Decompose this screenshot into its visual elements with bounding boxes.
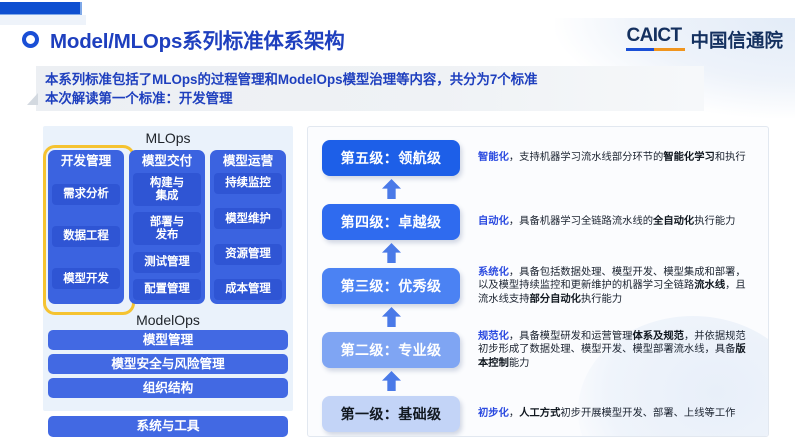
modelops-bar[interactable]: 模型安全与风险管理 — [48, 354, 288, 374]
mlops-column-title: 模型运营 — [214, 153, 282, 170]
maturity-level-row-2: 第二级：专业级规范化，具备模型研发和运营管理体系及规范，并依据规范初步形成了数据… — [308, 331, 769, 369]
logo-mark: CAICT — [626, 26, 685, 51]
mlops-item-chip[interactable]: 部署与 发布 — [133, 212, 201, 245]
maturity-level-description: 初步化，人工方式初步开展模型开发、部署、上线等工作 — [478, 407, 750, 420]
maturity-level-box[interactable]: 第五级：领航级 — [322, 140, 460, 176]
title-row: Model/MLOps系列标准体系架构 — [22, 24, 345, 54]
modelops-heading: ModelOps — [48, 308, 288, 330]
mlops-column-items: 持续监控模型维护资源管理成本管理 — [214, 173, 282, 300]
mlops-column-2[interactable]: 模型交付构建与 集成部署与 发布测试管理配置管理 — [129, 150, 205, 304]
modelops-bar[interactable]: 模型管理 — [48, 330, 288, 350]
modelops-bar[interactable]: 组织结构 — [48, 378, 288, 398]
maturity-level-box[interactable]: 第一级：基础级 — [322, 396, 460, 432]
mlops-column-items: 构建与 集成部署与 发布测试管理配置管理 — [133, 173, 201, 300]
mlops-column-title: 模型交付 — [133, 153, 201, 170]
maturity-level-description: 自动化，具备机器学习全链路流水线的全自动化执行能力 — [478, 215, 750, 228]
mlops-item-chip[interactable]: 配置管理 — [133, 279, 201, 300]
mlops-column-1[interactable]: 开发管理需求分析数据工程模型开发 — [48, 150, 124, 304]
mlops-item-chip[interactable]: 需求分析 — [52, 184, 120, 205]
up-arrow-icon — [382, 371, 401, 391]
slide-header: Model/MLOps系列标准体系架构 CAICT 中国信通院 — [0, 18, 795, 66]
caict-logo: CAICT 中国信通院 — [626, 26, 783, 51]
logo-underline — [626, 48, 685, 51]
mlops-column-3[interactable]: 模型运营持续监控模型维护资源管理成本管理 — [210, 150, 286, 304]
mlops-item-chip[interactable]: 构建与 集成 — [133, 173, 201, 206]
mlops-modelops-panel: MLOps 开发管理需求分析数据工程模型开发模型交付构建与 集成部署与 发布测试… — [43, 126, 293, 411]
corner-accent-bar — [0, 2, 82, 15]
mlops-item-chip[interactable]: 模型维护 — [214, 208, 282, 229]
maturity-level-description: 规范化，具备模型研发和运营管理体系及规范，并依据规范初步形成了数据处理、模型开发… — [478, 330, 750, 370]
mlops-item-chip[interactable]: 资源管理 — [214, 244, 282, 265]
maturity-level-description: 系统化，具备包括数据处理、模型开发、模型集成和部署，以及模型持续监控和更新维护的… — [478, 266, 750, 306]
mlops-column-items: 需求分析数据工程模型开发 — [52, 173, 120, 300]
up-arrow-icon — [382, 243, 401, 263]
mlops-heading: MLOps — [43, 126, 293, 148]
modelops-section: ModelOps 模型管理模型安全与风险管理组织结构 — [48, 308, 288, 402]
mlops-item-chip[interactable]: 成本管理 — [214, 279, 282, 300]
maturity-level-box[interactable]: 第三级：优秀级 — [322, 268, 460, 304]
logo-chinese-text: 中国信通院 — [690, 31, 783, 50]
mlops-item-chip[interactable]: 数据工程 — [52, 226, 120, 247]
mlops-item-chip[interactable]: 测试管理 — [133, 252, 201, 273]
up-arrow-icon — [382, 307, 401, 327]
mlops-columns: 开发管理需求分析数据工程模型开发模型交付构建与 集成部署与 发布测试管理配置管理… — [48, 150, 288, 304]
subtitle-line-1: 本系列标准包括了MLOps的过程管理和ModelOps模型治理等内容，共分为7个… — [45, 70, 537, 89]
subtitle-band: 本系列标准包括了MLOps的过程管理和ModelOps模型治理等内容，共分为7个… — [36, 66, 704, 111]
maturity-level-row-1: 第一级：基础级初步化，人工方式初步开展模型开发、部署、上线等工作 — [308, 395, 769, 433]
maturity-level-box[interactable]: 第四级：卓越级 — [322, 204, 460, 240]
mlops-item-chip[interactable]: 持续监控 — [214, 173, 282, 194]
maturity-levels-panel: 第五级：领航级智能化，支持机器学习流水线部分环节的智能化学习和执行第四级：卓越级… — [307, 126, 769, 437]
system-and-tools-bar[interactable]: 系统与工具 — [48, 416, 288, 437]
page-title: Model/MLOps系列标准体系架构 — [50, 24, 345, 54]
mlops-column-title: 开发管理 — [52, 153, 120, 170]
up-arrow-icon — [382, 179, 401, 199]
ring-icon — [22, 31, 39, 48]
maturity-level-row-4: 第四级：卓越级自动化，具备机器学习全链路流水线的全自动化执行能力 — [308, 203, 769, 241]
maturity-level-row-5: 第五级：领航级智能化，支持机器学习流水线部分环节的智能化学习和执行 — [308, 139, 769, 177]
subtitle-text: 本系列标准包括了MLOps的过程管理和ModelOps模型治理等内容，共分为7个… — [45, 70, 537, 108]
logo-latin-text: CAICT — [626, 25, 681, 46]
maturity-level-description: 智能化，支持机器学习流水线部分环节的智能化学习和执行 — [478, 151, 750, 164]
mlops-item-chip[interactable]: 模型开发 — [52, 268, 120, 289]
subtitle-line-2: 本次解读第一个标准：开发管理 — [45, 89, 537, 108]
maturity-level-box[interactable]: 第二级：专业级 — [322, 332, 460, 368]
modelops-bars: 模型管理模型安全与风险管理组织结构 — [48, 330, 288, 398]
maturity-level-row-3: 第三级：优秀级系统化，具备包括数据处理、模型开发、模型集成和部署，以及模型持续监… — [308, 267, 769, 305]
